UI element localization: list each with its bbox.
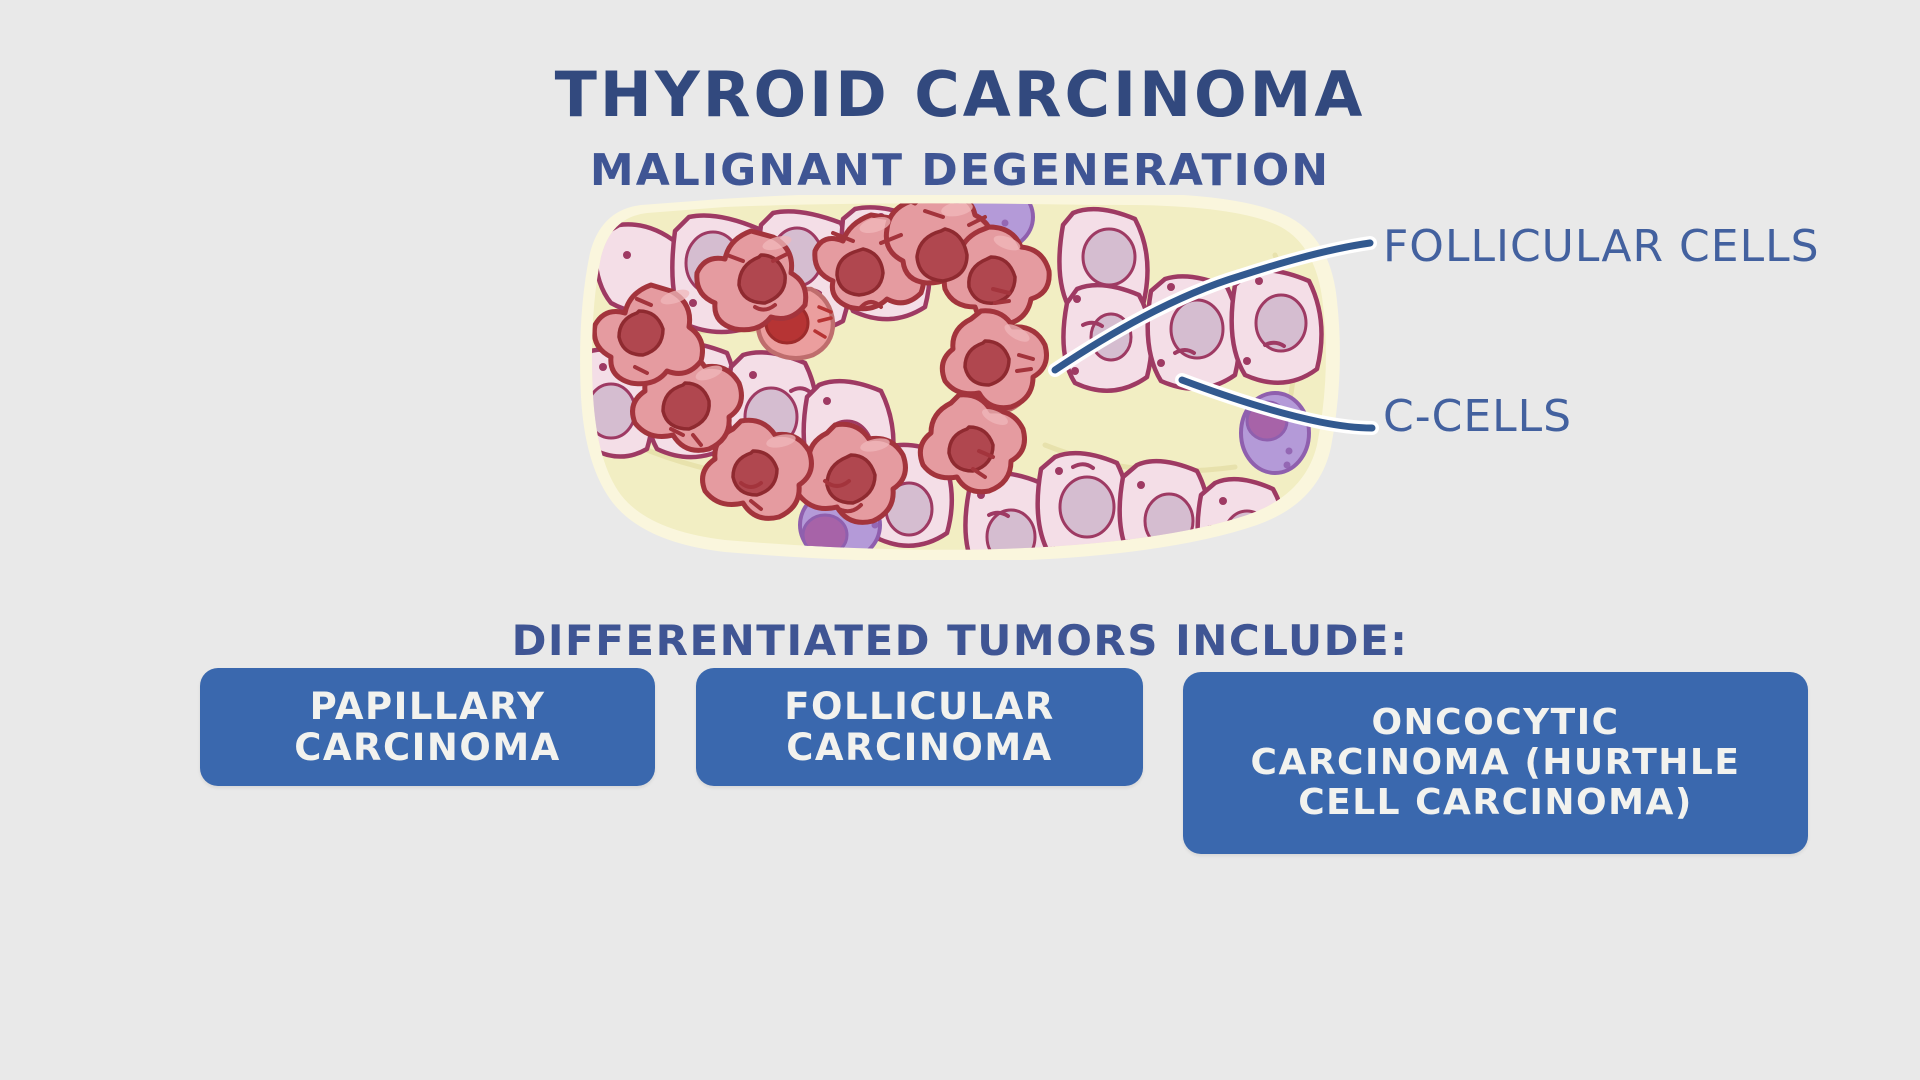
- page-title: THYROID CARCINOMA: [0, 64, 1920, 126]
- callout-label-follicular-cells: FOLLICULAR CELLS: [1383, 225, 1820, 269]
- purple-cell-right: [1241, 393, 1309, 473]
- tumor-button-papillary[interactable]: PAPILLARY CARCINOMA: [200, 668, 655, 786]
- differentiated-tumor-list: PAPILLARY CARCINOMA FOLLICULAR CARCINOMA…: [0, 660, 1920, 860]
- page-subtitle: MALIGNANT DEGENERATION: [0, 149, 1920, 193]
- tumor-button-follicular[interactable]: FOLLICULAR CARCINOMA: [696, 668, 1143, 786]
- tumor-button-oncocytic[interactable]: ONCOCYTIC CARCINOMA (HURTHLE CELL CARCIN…: [1183, 672, 1808, 854]
- thyroid-follicle-illustration: [575, 195, 1365, 560]
- section-heading: DIFFERENTIATED TUMORS INCLUDE:: [0, 620, 1920, 662]
- callout-label-c-cells: C-CELLS: [1383, 395, 1572, 439]
- slide-canvas: THYROID CARCINOMA MALIGNANT DEGENERATION: [0, 0, 1920, 1080]
